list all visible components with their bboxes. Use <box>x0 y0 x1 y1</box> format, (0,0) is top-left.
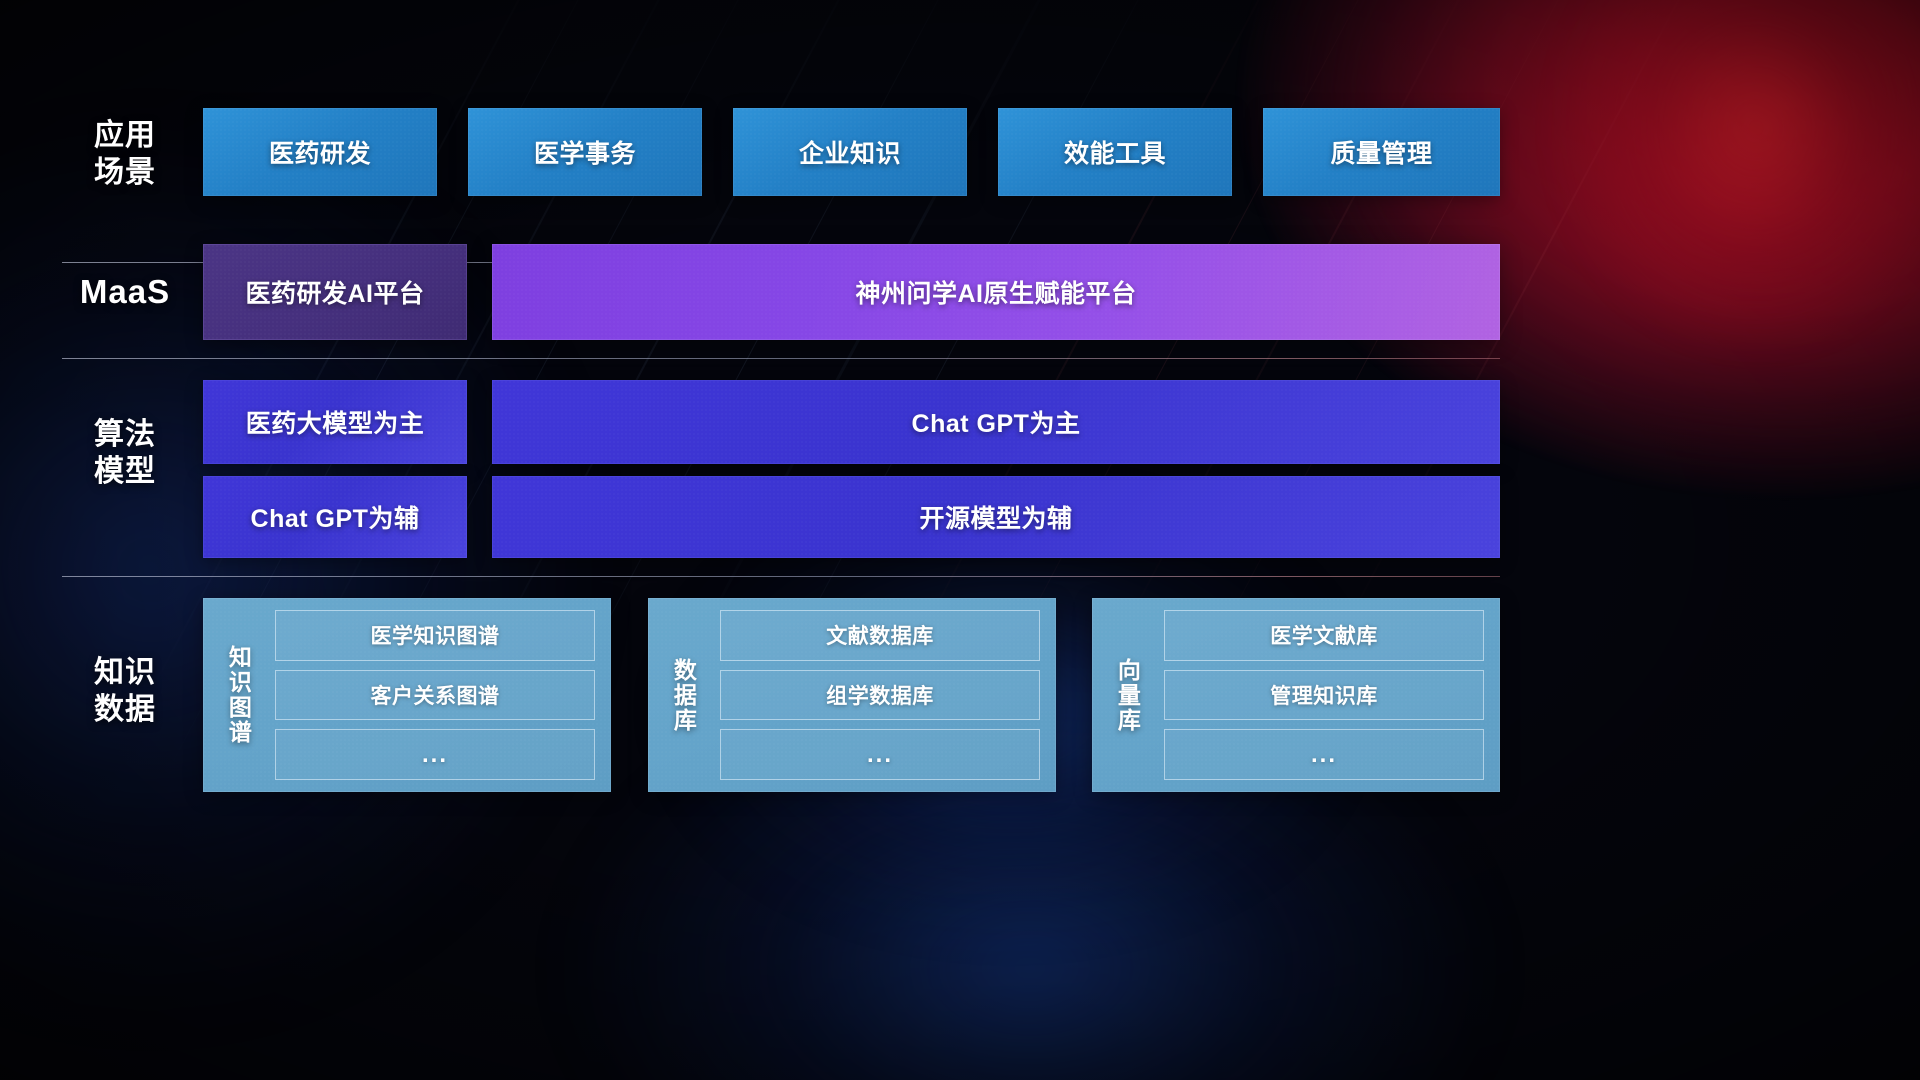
knowledge-panel-title: 数据库 <box>656 608 710 782</box>
maas-box-shenzhou-wenxue-platform[interactable]: 神州问学AI原生赋能平台 <box>492 244 1500 340</box>
knowledge-item-more[interactable]: ... <box>720 729 1040 780</box>
row-label-line: 应用 <box>62 118 188 155</box>
row-label-line: 知识 <box>62 655 188 692</box>
algo-label: 医药大模型为主 <box>246 404 425 440</box>
scenario-label: 医药研发 <box>269 134 371 170</box>
knowledge-item[interactable]: 文献数据库 <box>720 610 1040 661</box>
row-label-algorithm-models: 算法 模型 <box>62 417 188 490</box>
knowledge-panel-title: 知识图谱 <box>211 608 265 782</box>
row-label-knowledge-data: 知识 数据 <box>62 655 188 728</box>
knowledge-panel-database[interactable]: 数据库 文献数据库 组学数据库 ... <box>648 598 1056 792</box>
maas-box-pharma-ai-platform[interactable]: 医药研发AI平台 <box>203 244 467 340</box>
scenario-box-quality-management[interactable]: 质量管理 <box>1263 108 1500 196</box>
knowledge-item[interactable]: 医学知识图谱 <box>275 610 595 661</box>
knowledge-item[interactable]: 组学数据库 <box>720 670 1040 721</box>
row-label-line: 算法 <box>62 417 188 454</box>
diagram-canvas: 应用 场景 MaaS 算法 模型 知识 数据 医药研发 医学事务 企业知识 效能… <box>0 0 1920 1080</box>
row-label-application-scenarios: 应用 场景 <box>62 118 188 191</box>
algo-box-chatgpt-primary[interactable]: Chat GPT为主 <box>492 380 1500 464</box>
maas-label: 神州问学AI原生赋能平台 <box>855 274 1136 310</box>
light-streak <box>287 0 702 698</box>
algo-label: 开源模型为辅 <box>919 499 1072 535</box>
light-streak <box>1187 0 1601 698</box>
algo-box-opensource-model-secondary[interactable]: 开源模型为辅 <box>492 476 1500 558</box>
knowledge-item-list: 文献数据库 组学数据库 ... <box>710 608 1044 782</box>
row-label-line: 模型 <box>62 454 188 491</box>
row-label-maas: MaaS <box>62 272 188 312</box>
knowledge-item-list: 医学文献库 管理知识库 ... <box>1154 608 1488 782</box>
scenario-label: 企业知识 <box>799 134 901 170</box>
row-label-line: 数据 <box>62 692 188 729</box>
knowledge-item-more[interactable]: ... <box>1164 729 1484 780</box>
scenario-box-efficiency-tools[interactable]: 效能工具 <box>998 108 1232 196</box>
row-label-line: MaaS <box>62 272 188 312</box>
knowledge-item-list: 医学知识图谱 客户关系图谱 ... <box>265 608 599 782</box>
scenario-box-enterprise-knowledge[interactable]: 企业知识 <box>733 108 967 196</box>
knowledge-item[interactable]: 医学文献库 <box>1164 610 1484 661</box>
divider-row-2 <box>62 358 1500 359</box>
divider-row-3 <box>62 576 1500 577</box>
row-label-line: 场景 <box>62 155 188 192</box>
algo-box-pharma-large-model-primary[interactable]: 医药大模型为主 <box>203 380 467 464</box>
knowledge-item[interactable]: 管理知识库 <box>1164 670 1484 721</box>
scenario-box-medical-affairs[interactable]: 医学事务 <box>468 108 702 196</box>
knowledge-panel-title: 向量库 <box>1100 608 1154 782</box>
algo-box-chatgpt-secondary[interactable]: Chat GPT为辅 <box>203 476 467 558</box>
scenario-label: 医学事务 <box>534 134 636 170</box>
knowledge-panel-vector-store[interactable]: 向量库 医学文献库 管理知识库 ... <box>1092 598 1500 792</box>
scenario-label: 效能工具 <box>1064 134 1166 170</box>
algo-label: Chat GPT为辅 <box>251 499 420 535</box>
knowledge-item-more[interactable]: ... <box>275 729 595 780</box>
scenario-label: 质量管理 <box>1330 134 1432 170</box>
scenario-box-medicine-rd[interactable]: 医药研发 <box>203 108 437 196</box>
knowledge-item[interactable]: 客户关系图谱 <box>275 670 595 721</box>
knowledge-panel-knowledge-graph[interactable]: 知识图谱 医学知识图谱 客户关系图谱 ... <box>203 598 611 792</box>
light-streak <box>896 0 1301 680</box>
algo-label: Chat GPT为主 <box>912 404 1081 440</box>
maas-label: 医药研发AI平台 <box>245 274 424 310</box>
